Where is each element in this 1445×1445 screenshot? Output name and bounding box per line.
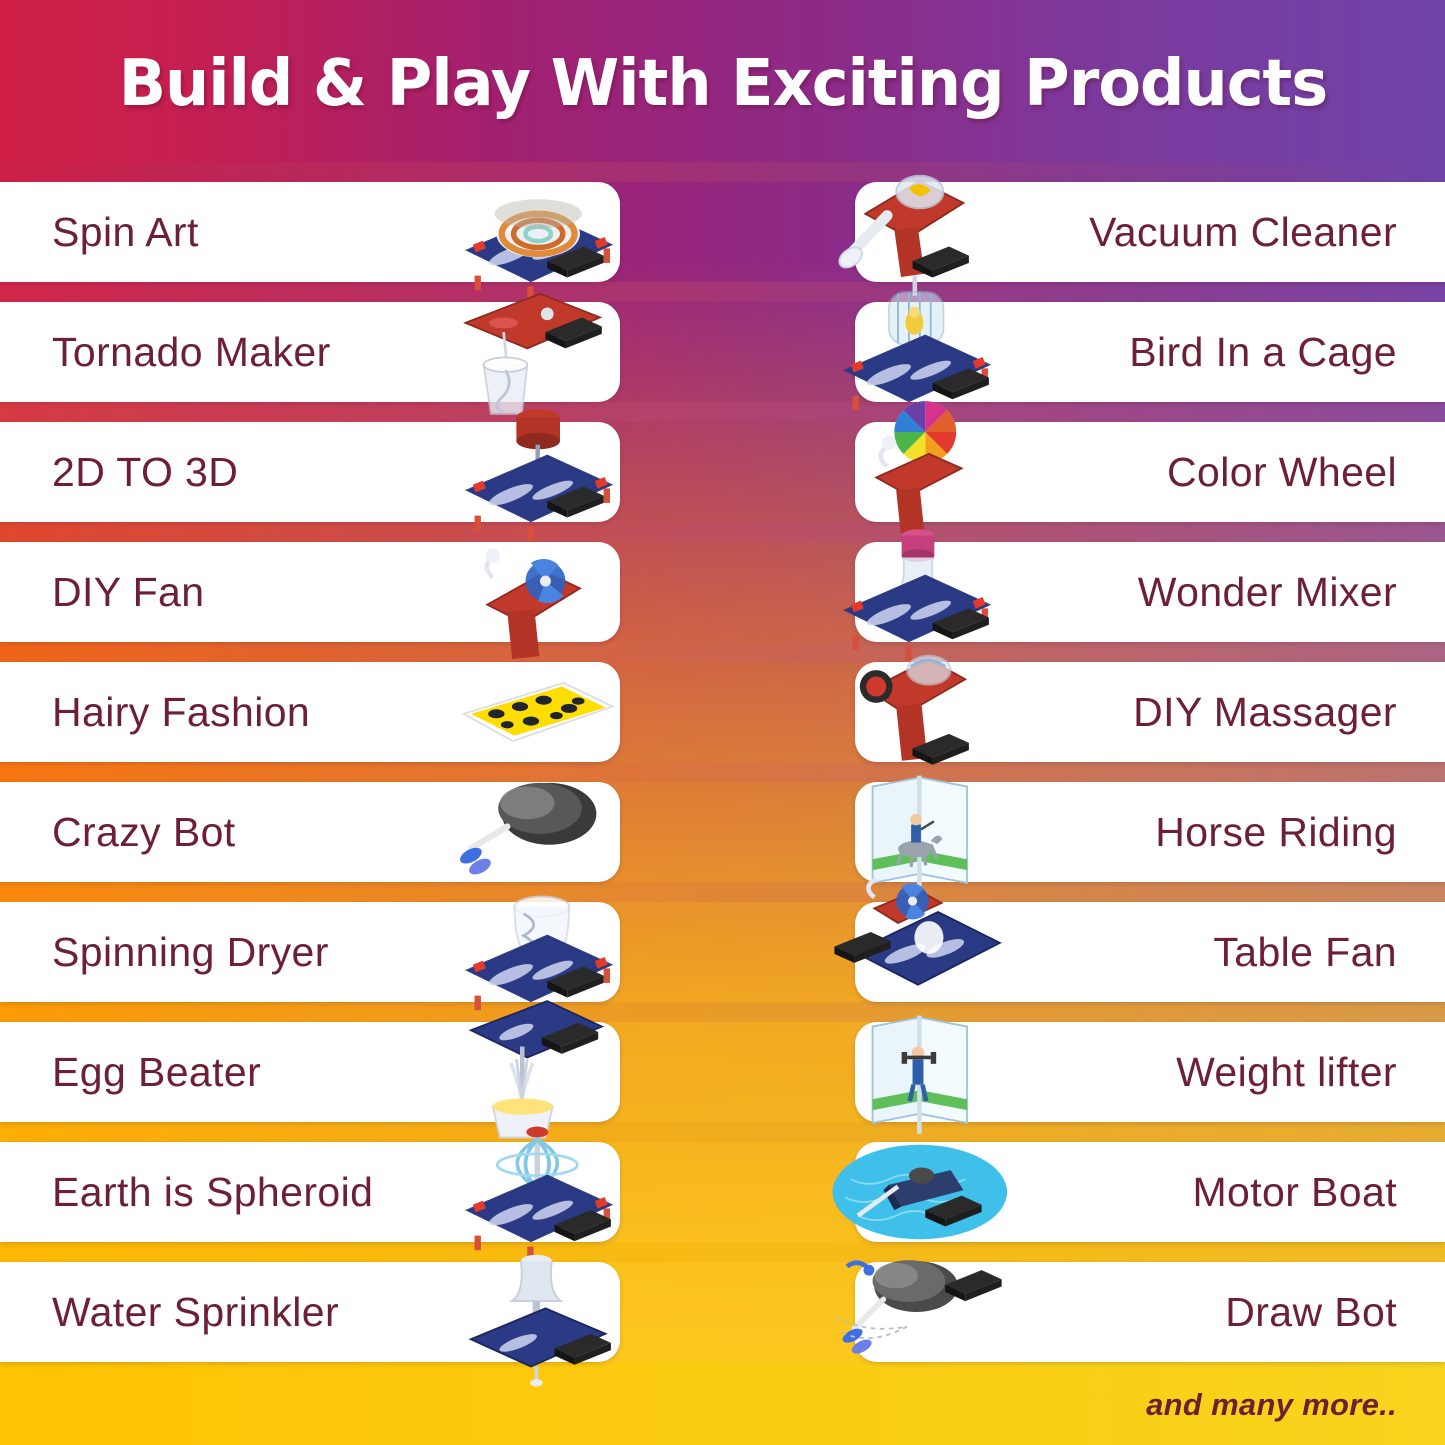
row-separator-stripe (0, 402, 1445, 422)
row-separator-stripe (0, 642, 1445, 662)
right-product-row[interactable]: Table Fan (855, 902, 1445, 1002)
right-product-row[interactable]: Horse Riding (855, 782, 1445, 882)
product-label: DIY Massager (1133, 662, 1397, 762)
product-label: Tornado Maker (52, 302, 331, 402)
right-product-row[interactable]: Color Wheel (855, 422, 1445, 522)
product-label: Weight lifter (1176, 1022, 1397, 1122)
right-product-row[interactable]: Draw Bot (855, 1262, 1445, 1362)
row-separator-stripe (0, 1242, 1445, 1262)
left-product-row[interactable]: Crazy Bot (0, 782, 620, 882)
row-separator-stripe (0, 762, 1445, 782)
left-product-row[interactable]: Earth is Spheroid (0, 1142, 620, 1242)
right-product-row[interactable]: Weight lifter (855, 1022, 1445, 1122)
right-product-row[interactable]: Bird In a Cage (855, 302, 1445, 402)
product-label: Motor Boat (1192, 1142, 1397, 1242)
right-product-row[interactable]: Motor Boat (855, 1142, 1445, 1242)
product-label: Earth is Spheroid (52, 1142, 373, 1242)
row-separator-stripe (0, 1122, 1445, 1142)
product-label: Egg Beater (52, 1022, 261, 1122)
right-product-row[interactable]: DIY Massager (855, 662, 1445, 762)
row-separator-stripe (0, 1002, 1445, 1022)
product-label: Draw Bot (1225, 1262, 1397, 1362)
left-product-row[interactable]: Tornado Maker (0, 302, 620, 402)
product-label: Hairy Fashion (52, 662, 310, 762)
row-separator-stripe (0, 882, 1445, 902)
product-label: Table Fan (1213, 902, 1397, 1002)
product-label: Spinning Dryer (52, 902, 329, 1002)
right-product-row[interactable]: Vacuum Cleaner (855, 182, 1445, 282)
product-label: Horse Riding (1155, 782, 1397, 882)
product-label: Bird In a Cage (1129, 302, 1397, 402)
row-separator-stripe (0, 282, 1445, 302)
page-title: Build & Play With Exciting Products (118, 47, 1327, 121)
product-label: Water Sprinkler (52, 1262, 339, 1362)
left-product-row[interactable]: DIY Fan (0, 542, 620, 642)
left-product-row[interactable]: Spin Art (0, 182, 620, 282)
product-label: Spin Art (52, 182, 199, 282)
product-label: Wonder Mixer (1138, 542, 1397, 642)
product-label: Crazy Bot (52, 782, 236, 882)
header-banner: Build & Play With Exciting Products (0, 0, 1445, 168)
left-product-row[interactable]: 2D TO 3D (0, 422, 620, 522)
product-label: DIY Fan (52, 542, 204, 642)
product-label: Vacuum Cleaner (1089, 182, 1397, 282)
right-product-row[interactable]: Wonder Mixer (855, 542, 1445, 642)
row-separator-stripe (0, 522, 1445, 542)
left-product-row[interactable]: Egg Beater (0, 1022, 620, 1122)
left-product-row[interactable]: Water Sprinkler (0, 1262, 620, 1362)
and-many-more-note: and many more.. (1146, 1387, 1397, 1423)
left-product-row[interactable]: Hairy Fashion (0, 662, 620, 762)
left-product-row[interactable]: Spinning Dryer (0, 902, 620, 1002)
product-label: 2D TO 3D (52, 422, 238, 522)
product-list-infographic: Build & Play With Exciting Products Spin… (0, 0, 1445, 1445)
product-label: Color Wheel (1167, 422, 1397, 522)
